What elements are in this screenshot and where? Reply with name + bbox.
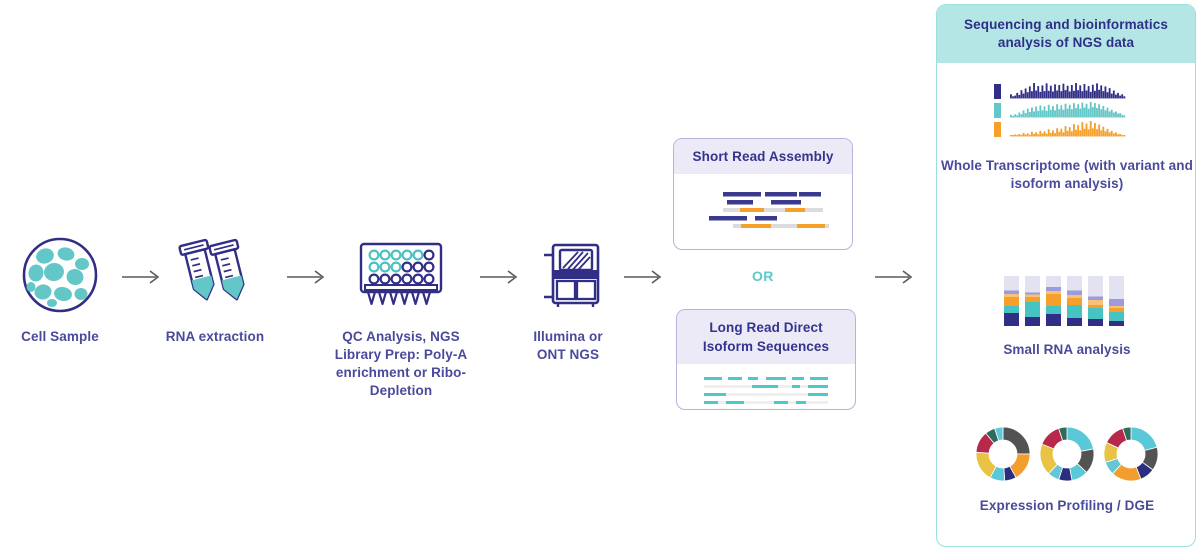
- arrow-2: [285, 268, 331, 286]
- panel-title: Sequencing and bioinformatics analysis o…: [937, 5, 1195, 63]
- test-tubes-icon: [173, 236, 257, 314]
- panel-output-label: Expression Profiling / DGE: [937, 497, 1196, 515]
- step-label: Illumina or ONT NGS: [521, 328, 615, 364]
- long-read-isoform-lines-viz: [677, 364, 855, 410]
- step-qc-library-prep[interactable]: QC Analysis, NGS Library Prep: Poly-A en…: [330, 236, 472, 400]
- arrow-1: [120, 268, 166, 286]
- donut-charts-viz: [937, 423, 1196, 485]
- panel-output-label: Small RNA analysis: [937, 341, 1196, 359]
- card-long-read-isoforms[interactable]: Long Read Direct Isoform Sequences: [676, 309, 856, 410]
- analysis-panel: Sequencing and bioinformatics analysis o…: [936, 4, 1196, 547]
- stacked-bar-chart-viz: [937, 273, 1196, 329]
- card-title: Short Read Assembly: [674, 139, 852, 174]
- short-read-contigs-viz: [674, 174, 852, 250]
- well-plate-icon: [355, 236, 447, 314]
- card-short-read-assembly[interactable]: Short Read Assembly: [673, 138, 853, 250]
- coverage-tracks-viz: [937, 83, 1196, 145]
- panel-output-label: Whole Transcriptome (with variant and is…: [937, 157, 1196, 193]
- step-label: QC Analysis, NGS Library Prep: Poly-A en…: [330, 328, 472, 400]
- workflow-flow: Cell Sample: [0, 0, 930, 551]
- branch-or-label: OR: [752, 268, 774, 284]
- step-label: RNA extraction: [166, 328, 264, 346]
- arrow-3: [478, 268, 524, 286]
- arrow-5: [873, 268, 919, 286]
- step-rna-extraction[interactable]: RNA extraction: [165, 236, 265, 346]
- arrow-4: [622, 268, 668, 286]
- step-label: Cell Sample: [21, 328, 99, 346]
- panel-output-small-rna[interactable]: Small RNA analysis: [937, 273, 1196, 359]
- panel-output-whole-transcriptome[interactable]: Whole Transcriptome (with variant and is…: [937, 83, 1196, 193]
- sequencer-icon: [532, 236, 604, 314]
- card-title: Long Read Direct Isoform Sequences: [677, 310, 855, 364]
- cell-sample-icon: [21, 236, 99, 314]
- step-sequencing-platform[interactable]: Illumina or ONT NGS: [521, 236, 615, 364]
- step-cell-sample[interactable]: Cell Sample: [10, 236, 110, 346]
- panel-output-expression-profiling[interactable]: Expression Profiling / DGE: [937, 423, 1196, 515]
- workflow-diagram: Cell Sample: [0, 0, 1200, 551]
